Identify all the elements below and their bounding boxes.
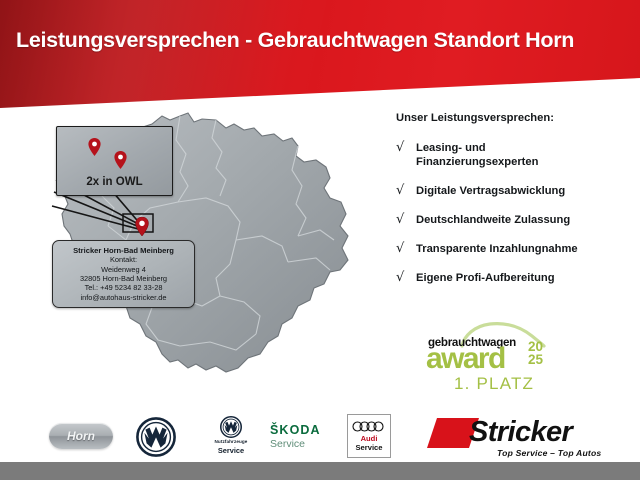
promise-item-label: Eigene Profi-Aufbereitung	[416, 271, 555, 285]
contact-city: 32805 Horn-Bad Meinberg	[80, 274, 167, 283]
owl-callout-box: 2x in OWL	[56, 126, 173, 196]
promise-item: √ Leasing- und Finanzierungsexperten	[396, 141, 636, 169]
vw-nutzfahrzeuge-service-logo: Nutzfahrzeuge Service	[202, 416, 260, 460]
slide-root: Leistungsversprechen - Gebrauchtwagen St…	[0, 0, 640, 480]
map-pin-icon	[88, 138, 101, 156]
page-title: Leistungsversprechen - Gebrauchtwagen St…	[16, 28, 632, 53]
award-word: award	[426, 344, 505, 374]
check-icon: √	[396, 213, 416, 226]
award-year-bottom: 25	[528, 354, 543, 367]
contact-name: Stricker Horn-Bad Meinberg	[73, 246, 174, 255]
skoda-name: ŠKODA	[270, 424, 340, 437]
contact-street: Weidenweg 4	[101, 265, 146, 274]
promise-item: √ Deutschlandweite Zulassung	[396, 213, 636, 227]
stricker-logo: Stricker Top Service – Top Autos	[425, 412, 611, 460]
audi-sub: Service	[355, 443, 382, 452]
header-band	[0, 0, 640, 108]
check-icon: √	[396, 271, 416, 284]
map-location-marker-icon	[135, 217, 148, 235]
contact-phone: Tel.: +49 5234 82 33-28	[85, 283, 163, 292]
check-icon: √	[396, 141, 416, 154]
vw-nf-sub1: Nutzfahrzeuge	[202, 439, 260, 444]
owl-callout-label: 2x in OWL	[57, 176, 172, 188]
skoda-service-logo: ŠKODA Service	[270, 424, 340, 450]
promise-item-label: Digitale Vertragsabwicklung	[416, 184, 565, 198]
audi-service-logo: Audi Service	[347, 414, 391, 458]
volkswagen-logo-icon	[136, 417, 176, 457]
volkswagen-ring-icon	[220, 416, 242, 438]
contact-kontakt-label: Kontakt:	[110, 255, 137, 264]
skoda-sub: Service	[270, 438, 340, 450]
promise-item-label: Transparente Inzahlungnahme	[416, 242, 578, 256]
check-icon: √	[396, 242, 416, 255]
vw-nf-sub2: Service	[202, 446, 260, 455]
promise-item-label: Deutschlandweite Zulassung	[416, 213, 570, 227]
award-rank: 1. PLATZ	[454, 374, 534, 394]
stricker-tagline: Top Service – Top Autos	[497, 448, 601, 458]
promise-item: √ Eigene Profi-Aufbereitung	[396, 271, 636, 285]
award-badge: gebrauchtwagen award 20 25 1. PLATZ	[424, 322, 564, 394]
audi-rings-icon	[352, 421, 386, 432]
promise-item: √ Transparente Inzahlungnahme	[396, 242, 636, 256]
horn-badge: Horn	[49, 423, 113, 449]
audi-name: Audi	[361, 434, 378, 443]
map-pin-icon	[114, 151, 127, 169]
contact-info-box: Stricker Horn-Bad Meinberg Kontakt: Weid…	[52, 240, 195, 308]
footer-bar	[0, 462, 640, 480]
award-year: 20 25	[528, 341, 543, 366]
promise-list: Unser Leistungsversprechen: √ Leasing- u…	[396, 112, 636, 300]
promise-item: √ Digitale Vertragsabwicklung	[396, 184, 636, 198]
contact-email: info@autohaus-stricker.de	[81, 293, 167, 302]
stricker-name: Stricker	[469, 417, 572, 447]
horn-badge-label: Horn	[67, 429, 95, 443]
check-icon: √	[396, 184, 416, 197]
header-sheen	[0, 0, 341, 108]
promise-heading: Unser Leistungsversprechen:	[396, 112, 636, 124]
map-area: 2x in OWL Stricker Horn-Bad Meinberg Kon…	[30, 110, 380, 405]
promise-item-label: Leasing- und Finanzierungsexperten	[416, 141, 538, 169]
